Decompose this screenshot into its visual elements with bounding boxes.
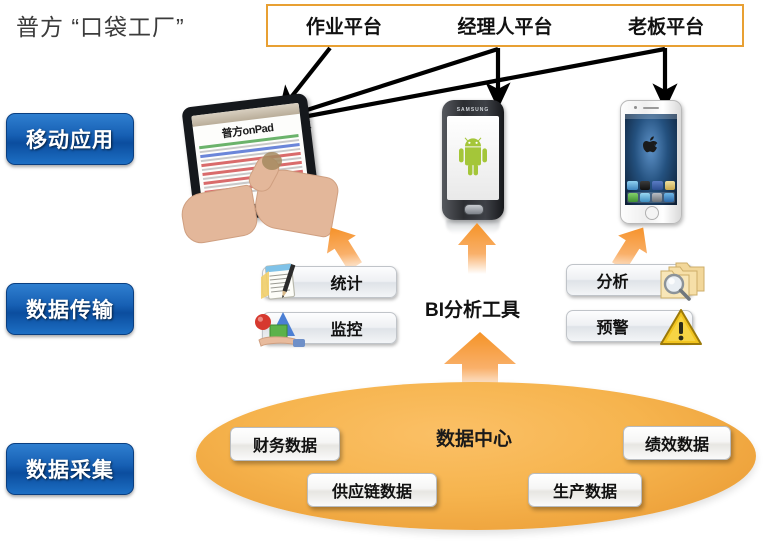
iphone-speaker (643, 107, 659, 109)
stage-label-transfer[interactable]: 数据传输 (6, 283, 134, 335)
data-box-performance-label: 绩效数据 (645, 431, 709, 455)
platform-item-manager[interactable]: 经理人平台 (453, 12, 556, 39)
capsule-analysis[interactable]: 分析 (566, 264, 693, 296)
capsule-warning-label: 预警 (596, 314, 662, 338)
capsule-monitoring[interactable]: 监控 (262, 312, 397, 344)
diagram-canvas: 普方 “口袋工厂” 作业平台 经理人平台 老板平台 移动应用 数据传输 数据采集 (0, 0, 763, 549)
stage-label-collect-text: 数据采集 (26, 454, 114, 484)
data-center-title: 数据中心 (436, 424, 512, 451)
bi-tool-label: BI分析工具 (425, 295, 520, 322)
iphone-camera-icon (634, 106, 637, 109)
iphone-dock (627, 192, 675, 203)
iphone-screen (625, 114, 677, 205)
device-tablet[interactable]: 普方onPad (182, 98, 332, 234)
device-iphone[interactable] (614, 100, 686, 230)
android-body: SAMSUNG (442, 100, 504, 220)
shapes-hand-icon (253, 309, 307, 349)
stage-label-collect[interactable]: 数据采集 (6, 443, 134, 495)
android-home-button (464, 204, 484, 215)
data-box-production-label: 生产数据 (553, 478, 617, 502)
capsule-statistics[interactable]: 统计 (262, 266, 397, 298)
iphone-body (620, 100, 682, 224)
iphone-status-bar (625, 114, 677, 119)
capsule-warning[interactable]: 预警 (566, 310, 693, 342)
android-robot-icon (456, 136, 490, 176)
data-box-finance-label: 财务数据 (253, 432, 317, 456)
stage-label-transfer-text: 数据传输 (26, 294, 114, 324)
device-android-phone[interactable]: SAMSUNG (436, 100, 510, 230)
hand-left-icon (178, 184, 260, 246)
orange-arrow-to-tablet (316, 222, 370, 272)
stage-label-mobile[interactable]: 移动应用 (6, 113, 134, 165)
data-box-finance[interactable]: 财务数据 (230, 427, 340, 461)
data-box-performance[interactable]: 绩效数据 (623, 426, 731, 460)
data-box-supplychain-label: 供应链数据 (332, 478, 412, 502)
iphone-app-icons (627, 181, 675, 190)
folder-magnifier-icon (650, 257, 708, 303)
android-screen (447, 116, 499, 200)
stage-label-mobile-text: 移动应用 (26, 124, 114, 154)
apple-logo-icon (642, 135, 660, 157)
iphone-home-button (645, 206, 659, 220)
platform-item-operation[interactable]: 作业平台 (302, 12, 386, 39)
finger-touch-point (262, 152, 282, 170)
data-box-production[interactable]: 生产数据 (528, 473, 642, 507)
document-pen-icon (255, 261, 307, 303)
warning-triangle-icon (658, 307, 704, 347)
data-box-supplychain[interactable]: 供应链数据 (307, 473, 437, 507)
android-brand-label: SAMSUNG (442, 107, 504, 113)
page-title: 普方 “口袋工厂” (16, 8, 185, 42)
orange-arrow-to-android (455, 222, 499, 274)
platform-bar: 作业平台 经理人平台 老板平台 (266, 4, 744, 47)
platform-item-boss[interactable]: 老板平台 (624, 12, 708, 39)
